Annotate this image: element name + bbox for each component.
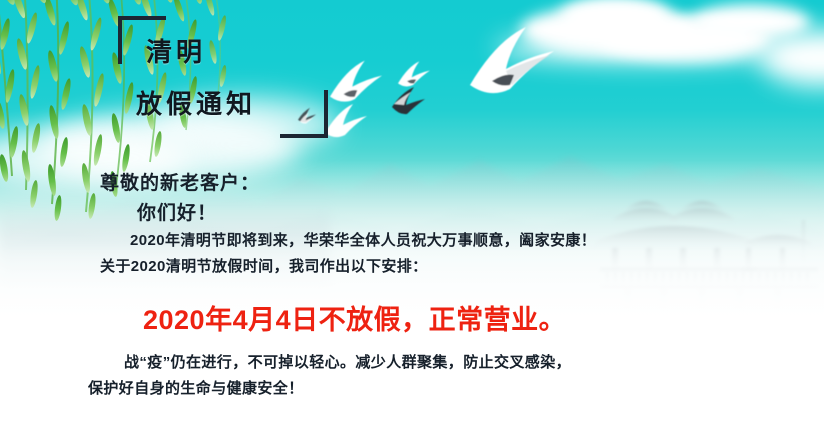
paragraph-two-line-1: 战“疫”仍在进行，不可掉以轻心。减少人群聚集，防止交叉感染， xyxy=(88,350,571,376)
holiday-highlight-text: 2020年4月4日不放假，正常营业。 xyxy=(143,298,566,337)
poster-canvas: 清明 放假通知 尊敬的新老客户： 你们好！ 2020年清明节即将到来，华荣华全体… xyxy=(0,0,824,438)
paragraph-one: 2020年清明节即将到来，华荣华全体人员祝大万事顺意，阖家安康！ 关于2020清… xyxy=(100,228,660,280)
salutation-text: 尊敬的新老客户： xyxy=(100,168,260,195)
paragraph-two-line-2: 保护好自身的生命与健康安全！ xyxy=(88,376,648,402)
paragraph-one-line-1: 2020年清明节即将到来，华荣华全体人员祝大万事顺意，阖家安康！ xyxy=(100,228,596,254)
corner-bracket-bottom-right-icon xyxy=(280,90,328,138)
greeting-text: 你们好！ xyxy=(137,198,217,225)
paragraph-one-line-2: 关于2020清明节放假时间，我司作出以下安排： xyxy=(100,254,660,280)
title-block: 清明 放假通知 xyxy=(118,16,328,138)
title-line-1: 清明 xyxy=(146,32,206,69)
title-line-2: 放假通知 xyxy=(136,84,256,121)
paragraph-two: 战“疫”仍在进行，不可掉以轻心。减少人群聚集，防止交叉感染， 保护好自身的生命与… xyxy=(88,350,648,402)
